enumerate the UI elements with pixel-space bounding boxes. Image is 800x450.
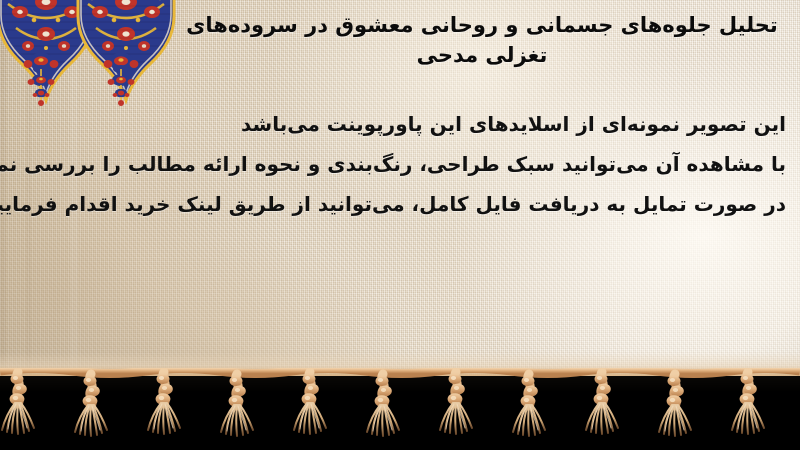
carpet-pendant-icon (98, 52, 144, 112)
slide-title: تحلیل جلوه‌های جسمانی و روحانی معشوق در … (182, 10, 782, 70)
slide-body-line-1: این تصویر نمونه‌ای از اسلایدهای این پاور… (0, 104, 786, 144)
carpet-fringe-band (0, 352, 800, 450)
slide-body: این تصویر نمونه‌ای از اسلایدهای این پاور… (0, 104, 786, 224)
slide-title-line-1: تحلیل جلوه‌های جسمانی و روحانی معشوق در … (186, 13, 778, 37)
slide-body-line-3: در صورت تمایل به دریافت فایل کامل، می‌تو… (0, 184, 786, 224)
carpet-pendant-icon (18, 52, 64, 112)
slide-body-line-2: با مشاهده آن می‌توانید سبک طراحی، رنگ‌بن… (0, 144, 786, 184)
carpet-tassels (0, 368, 800, 450)
slide-title-line-2: تغزلی مدحی (417, 43, 548, 67)
presentation-slide: تحلیل جلوه‌های جسمانی و روحانی معشوق در … (0, 0, 800, 450)
